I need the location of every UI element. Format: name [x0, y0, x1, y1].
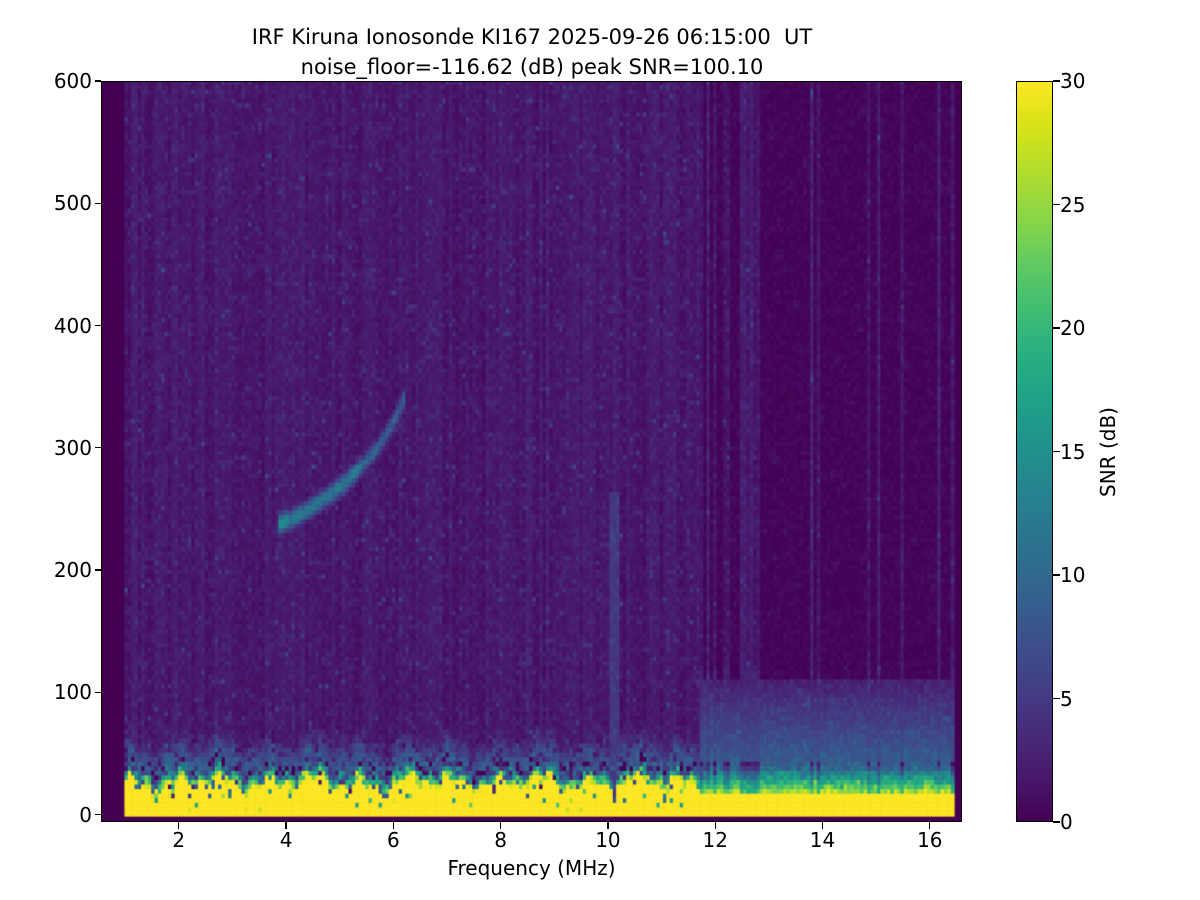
colorbar-tick-label: 30	[1060, 71, 1085, 91]
colorbar-tick-mark	[1053, 451, 1060, 452]
y-tick-mark	[95, 325, 102, 326]
x-tick-mark	[822, 822, 823, 829]
colorbar-tick-label: 10	[1060, 565, 1085, 585]
x-tick-label: 2	[172, 830, 185, 850]
x-tick-mark	[393, 822, 394, 829]
colorbar-tick-label: 0	[1060, 812, 1073, 832]
y-tick-mark	[95, 692, 102, 693]
x-tick-mark	[929, 822, 930, 829]
x-tick-label: 8	[494, 830, 507, 850]
title-line-2: noise_floor=-116.62 (dB) peak SNR=100.10	[0, 52, 1064, 82]
ionogram-heatmap	[102, 82, 961, 821]
y-tick-mark	[95, 447, 102, 448]
x-tick-mark	[715, 822, 716, 829]
x-tick-label: 12	[702, 830, 727, 850]
y-tick-label: 200	[54, 560, 92, 580]
y-tick-mark	[95, 203, 102, 204]
x-tick-mark	[178, 822, 179, 829]
y-tick-mark	[95, 814, 102, 815]
y-tick-label: 300	[54, 438, 92, 458]
colorbar	[1016, 81, 1053, 822]
colorbar-tick-mark	[1053, 204, 1060, 205]
y-tick-label: 400	[54, 316, 92, 336]
x-tick-label: 10	[595, 830, 620, 850]
colorbar-tick-mark	[1053, 574, 1060, 575]
x-axis-label: Frequency (MHz)	[101, 856, 962, 880]
colorbar-tick-label: 15	[1060, 442, 1085, 462]
colorbar-tick-mark	[1053, 327, 1060, 328]
y-tick-mark	[95, 569, 102, 570]
x-tick-label: 14	[810, 830, 835, 850]
y-tick-label: 600	[54, 71, 92, 91]
x-tick-label: 4	[280, 830, 293, 850]
title-line-1: IRF Kiruna Ionosonde KI167 2025-09-26 06…	[0, 22, 1064, 52]
y-tick-label: 100	[54, 682, 92, 702]
colorbar-tick-mark	[1053, 821, 1060, 822]
colorbar-tick-mark	[1053, 80, 1060, 81]
x-tick-label: 16	[917, 830, 942, 850]
y-tick-label: 0	[79, 805, 92, 825]
x-tick-label: 6	[387, 830, 400, 850]
colorbar-tick-label: 5	[1060, 689, 1073, 709]
colorbar-tick-mark	[1053, 698, 1060, 699]
plot-area	[101, 81, 962, 822]
colorbar-label-wrap: SNR (dB)	[1108, 81, 1109, 822]
colorbar-label: SNR (dB)	[1096, 407, 1120, 497]
ionogram-figure: IRF Kiruna Ionosonde KI167 2025-09-26 06…	[0, 0, 1200, 900]
y-axis-label-wrap: Virtual range (km)	[22, 81, 23, 822]
colorbar-tick-label: 25	[1060, 195, 1085, 215]
x-tick-mark	[500, 822, 501, 829]
x-tick-mark	[285, 822, 286, 829]
y-tick-mark	[95, 80, 102, 81]
figure-title: IRF Kiruna Ionosonde KI167 2025-09-26 06…	[0, 22, 1064, 82]
x-tick-mark	[607, 822, 608, 829]
colorbar-tick-label: 20	[1060, 318, 1085, 338]
y-tick-label: 500	[54, 193, 92, 213]
